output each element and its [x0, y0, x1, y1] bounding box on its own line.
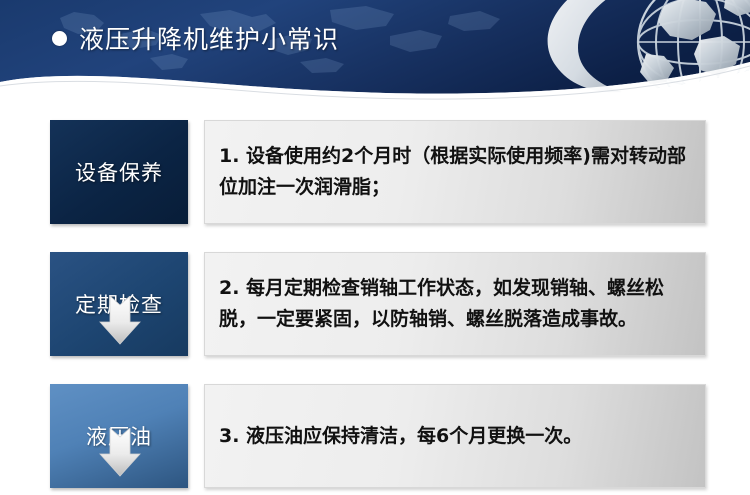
flow-content-box-1: 1. 设备使用约2个月时（根据实际使用频率)需对转动部位加注一次润滑脂； — [204, 120, 706, 224]
flow-content-text: 2. 每月定期检查销轴工作状态，如发现销轴、螺丝松脱，一定要紧固，以防轴销、螺丝… — [219, 273, 691, 335]
maintenance-flow-list: 设备保养 1. 设备使用约2个月时（根据实际使用频率)需对转动部位加注一次润滑脂… — [0, 100, 750, 495]
flow-label-box-equipment-maintenance[interactable]: 设备保养 — [50, 120, 188, 224]
chevron-down-arrow-icon — [98, 296, 142, 346]
flow-label-text: 设备保养 — [75, 157, 163, 187]
flow-content-text: 3. 液压油应保持清洁，每6个月更换一次。 — [219, 421, 582, 452]
page-title-text: 液压升降机维护小常识 — [79, 20, 339, 56]
chevron-down-arrow-icon — [98, 428, 142, 478]
flow-content-box-3: 3. 液压油应保持清洁，每6个月更换一次。 — [204, 384, 706, 488]
page-header: 液压升降机维护小常识 — [0, 0, 750, 100]
bullet-dot-icon — [52, 31, 67, 46]
page-title: 液压升降机维护小常识 — [52, 20, 339, 56]
flow-row: 设备保养 1. 设备使用约2个月时（根据实际使用频率)需对转动部位加注一次润滑脂… — [0, 120, 750, 224]
flow-content-text: 1. 设备使用约2个月时（根据实际使用频率)需对转动部位加注一次润滑脂； — [219, 141, 691, 203]
flow-content-box-2: 2. 每月定期检查销轴工作状态，如发现销轴、螺丝松脱，一定要紧固，以防轴销、螺丝… — [204, 252, 706, 356]
